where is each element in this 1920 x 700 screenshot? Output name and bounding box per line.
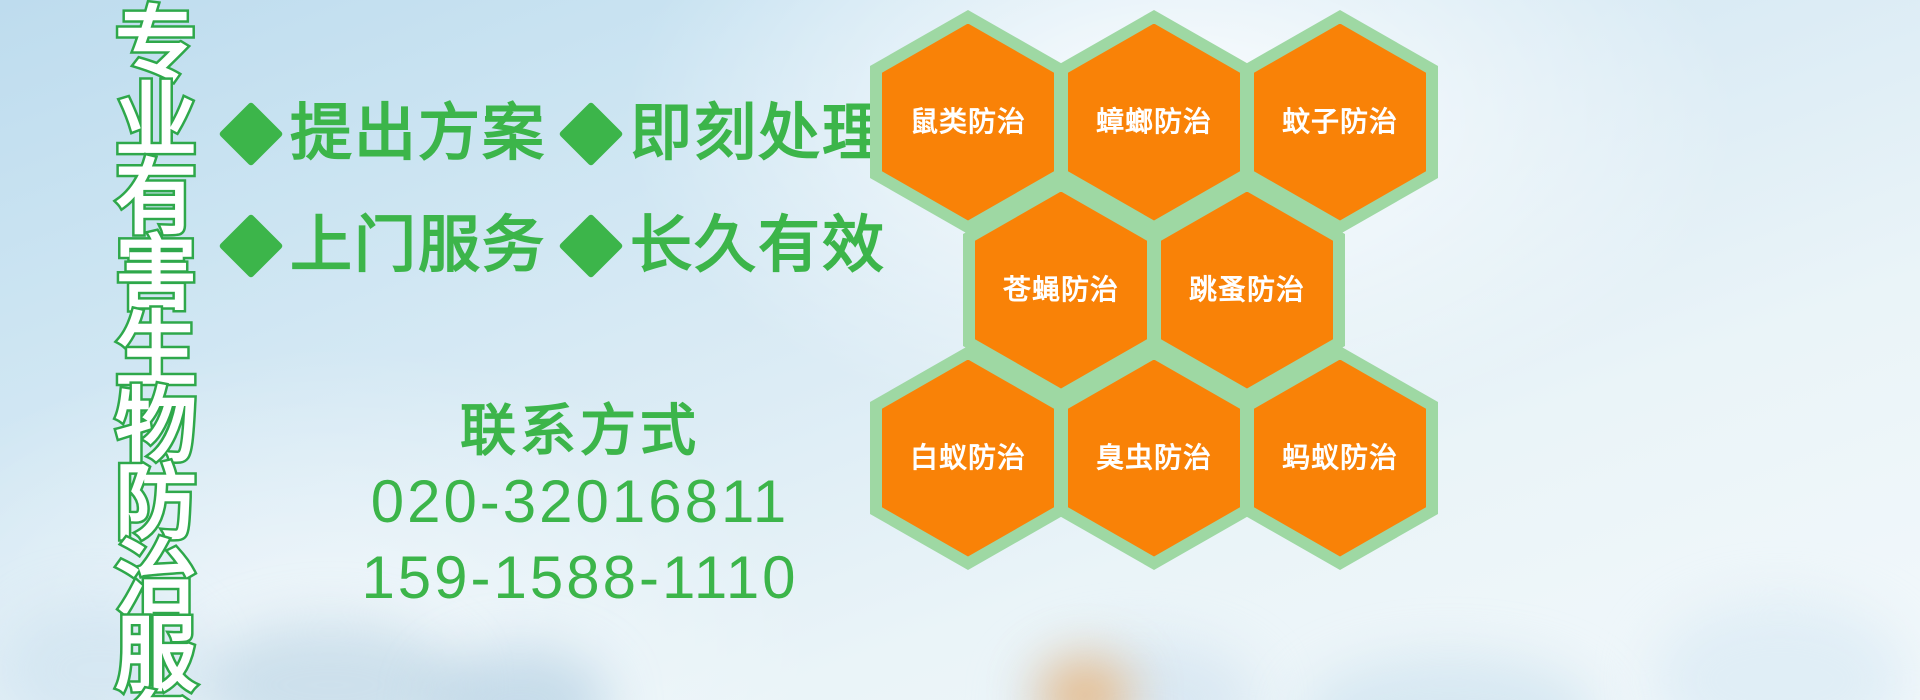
hex-inner: 鼠类防治 [882,24,1054,221]
vertical-title-char: 治 [108,542,204,618]
feature-label: 上门服务 [290,215,546,277]
feature-item-1: 即刻处理 [568,103,886,165]
phone-number-mobile[interactable]: 159-1588-1110 [300,540,860,616]
background-bokeh [200,620,460,700]
vertical-title-char: 有 [108,161,204,237]
phone-number-landline[interactable]: 020-32016811 [300,464,860,540]
feature-item-0: 提出方案 [228,103,546,165]
vertical-title-char: 业 [108,84,204,160]
service-label: 跳蚤防治 [1189,276,1305,304]
diamond-bullet-icon [558,213,623,278]
vertical-title-char: 防 [108,466,204,542]
feature-item-3: 长久有效 [568,215,886,277]
hex-inner: 白蚁防治 [882,360,1054,557]
hex-inner: 蟑螂防治 [1068,24,1240,221]
service-label: 蚊子防治 [1282,108,1398,136]
feature-row: 提出方案 即刻处理 [228,78,868,190]
feature-list: 提出方案 即刻处理 上门服务 长久有效 [228,78,868,302]
hex-inner: 跳蚤防治 [1161,192,1333,389]
vertical-title-char: 生 [108,313,204,389]
feature-item-2: 上门服务 [228,215,546,277]
service-label: 臭虫防治 [1096,444,1212,472]
contact-block: 联系方式 020-32016811 159-1588-1110 [300,398,860,616]
contact-title: 联系方式 [300,398,860,464]
vertical-title: 专 业 有 害 生 物 防 治 服 务 [108,8,204,700]
hex-inner: 臭虫防治 [1068,360,1240,557]
vertical-title-char: 害 [108,237,204,313]
feature-label: 提出方案 [290,103,546,165]
background-bokeh [430,648,610,700]
service-label: 鼠类防治 [910,108,1026,136]
vertical-title-char: 物 [108,389,204,465]
service-label: 蚂蚁防治 [1282,444,1398,472]
feature-label: 长久有效 [630,215,886,277]
vertical-title-char: 专 [108,8,204,84]
background-bokeh-orange [1040,660,1130,700]
hex-inner: 苍蝇防治 [975,192,1147,389]
service-label: 蟑螂防治 [1096,108,1212,136]
hex-inner: 蚊子防治 [1254,24,1426,221]
background-bokeh [1020,640,1260,700]
vertical-title-char: 务 [108,694,204,700]
diamond-bullet-icon [218,213,283,278]
vertical-title-char: 服 [108,618,204,694]
feature-row: 上门服务 长久有效 [228,190,868,302]
hex-inner: 蚂蚁防治 [1254,360,1426,557]
diamond-bullet-icon [558,101,623,166]
feature-label: 即刻处理 [630,103,886,165]
service-label: 白蚁防治 [910,444,1026,472]
background-bokeh [1300,655,1600,700]
service-hex-grid: 鼠类防治 蟑螂防治 蚊子防治 苍蝇防治 跳蚤防治 白蚁防治 [860,0,1480,580]
service-label: 苍蝇防治 [1003,276,1119,304]
pest-control-banner: 专 业 有 害 生 物 防 治 服 务 提出方案 即刻处理 上门服务 [0,0,1920,700]
background-bokeh [1650,600,1910,700]
diamond-bullet-icon [218,101,283,166]
